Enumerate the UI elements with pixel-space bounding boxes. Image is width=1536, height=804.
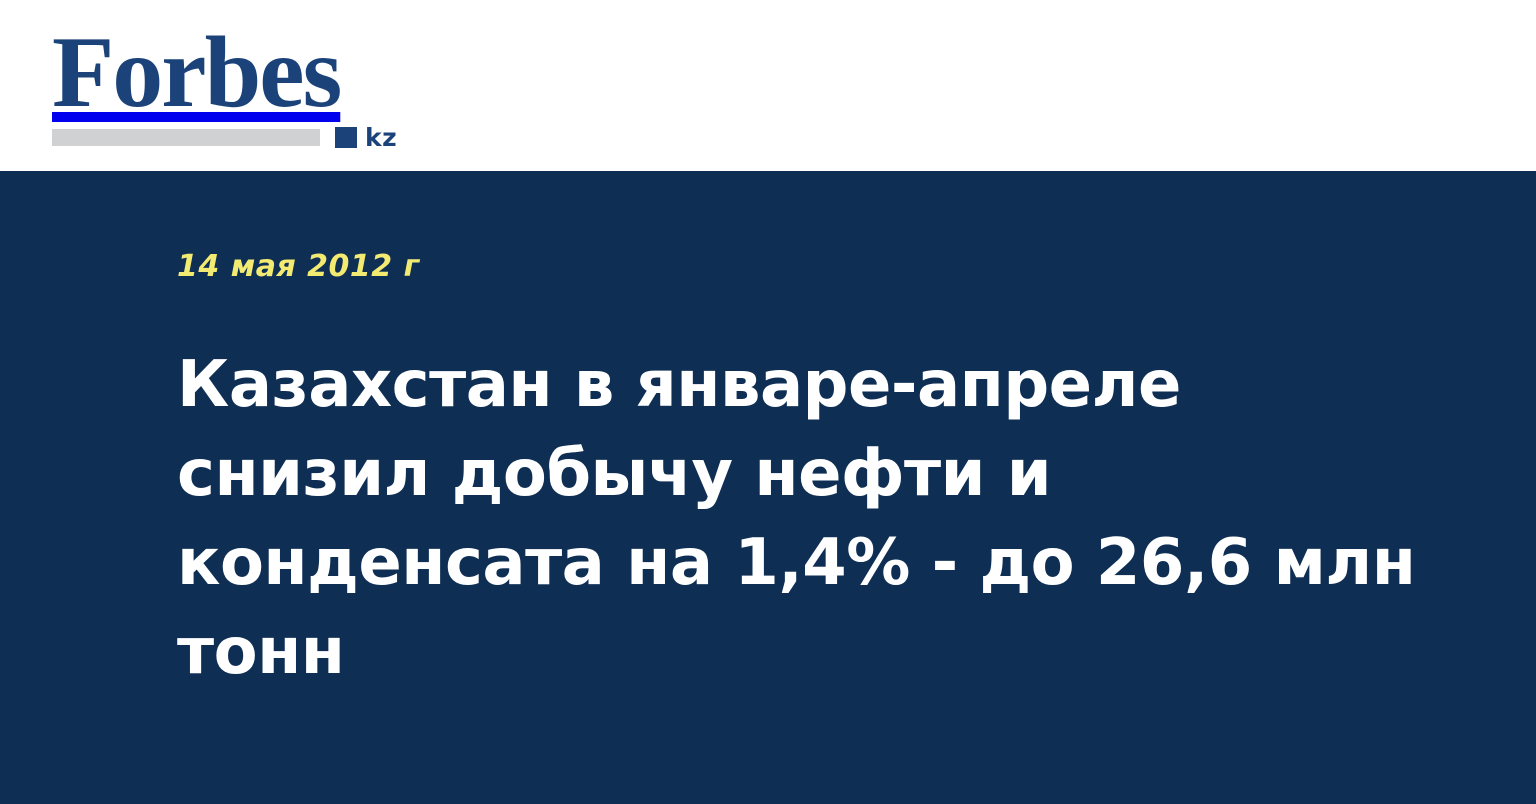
headline-line-2: снизил добычу нефти и [177,430,1417,519]
article-hero-content: 14 мая 2012 г Казахстан в январе-апреле … [177,249,1467,697]
logo-kz-square-icon [335,127,357,148]
logo-domain-suffix: kz [365,125,397,150]
article-publish-date: 14 мая 2012 г [177,249,1467,285]
logo-underline-row: kz [52,122,412,152]
headline-line-3: конденсата на 1,4% - до 26,6 млн [177,519,1417,608]
logo-wordmark-text: Forbes [52,22,412,126]
site-masthead: Forbes kz [0,0,1536,171]
article-headline: Казахстан в январе-апреле снизил добычу … [177,341,1417,697]
headline-line-1: Казахстан в январе-апреле [177,341,1417,430]
forbes-kz-logo[interactable]: Forbes kz [52,22,412,144]
article-hero-page: Forbes kz 14 мая 2012 г Казахстан в янва… [0,0,1536,804]
logo-grey-bar [52,129,320,146]
headline-line-4: тонн [177,608,1417,697]
article-hero-banner: 14 мая 2012 г Казахстан в январе-апреле … [0,171,1536,804]
